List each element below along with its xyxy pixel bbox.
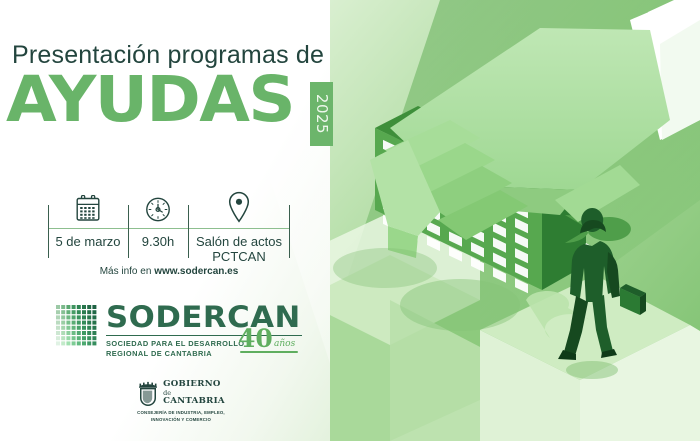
gobierno-department-line1: CONSEJERÍA DE INDUSTRIA, EMPLEO, [122, 410, 240, 416]
gobierno-logo-top: GOBIERNO de CANTABRIA [122, 380, 240, 407]
illustration-isometric-hand-placing-building [330, 0, 700, 441]
gobierno-line3: CANTABRIA [163, 397, 225, 407]
sodercan-tagline-line1: SOCIEDAD PARA EL DESARROLLO [106, 339, 246, 349]
info-table-horizontal-rule [48, 228, 290, 229]
anniversary-word: años [274, 339, 295, 349]
sodercan-wordmark: SODERCAN [106, 303, 318, 332]
gobierno-department: CONSEJERÍA DE INDUSTRIA, EMPLEO, INNOVAC… [122, 410, 240, 423]
gobierno-de-cantabria-logo: GOBIERNO de CANTABRIA CONSEJERÍA DE INDU… [122, 380, 240, 423]
event-info-table: 5 de marzo 9.30h Salón de actosPCTCAN [48, 183, 290, 261]
event-info-values-row: 5 de marzo 9.30h Salón de actosPCTCAN [48, 230, 290, 262]
event-time-value: 9.30h [128, 230, 188, 262]
event-venue-value: Salón de actosPCTCAN [188, 230, 290, 262]
year-badge: 2025 [310, 82, 333, 146]
clock-icon-cell [128, 183, 188, 223]
year-label: 2025 [313, 94, 331, 134]
poster-canvas: Presentación programas de AYUDAS 2025 [0, 0, 700, 441]
gobierno-wordmark: GOBIERNO de CANTABRIA [163, 380, 225, 407]
event-date-value: 5 de marzo [48, 230, 128, 262]
sodercan-logo: SODERCAN SOCIEDAD PARA EL DESARROLLO REG… [56, 305, 306, 357]
location-pin-icon-cell [188, 183, 290, 223]
gobierno-department-line2: INNOVACIÓN Y COMERCIO [122, 417, 240, 423]
event-info-icons-row [48, 183, 290, 223]
sodercan-tagline-line2: REGIONAL DE CANTABRIA [106, 349, 246, 359]
anniversary-badge: 40 años [238, 329, 304, 355]
clock-icon [145, 196, 171, 223]
more-info-url[interactable]: www.sodercan.es [154, 266, 238, 277]
location-pin-icon [227, 191, 251, 223]
calendar-icon [75, 195, 101, 223]
sodercan-tagline: SOCIEDAD PARA EL DESARROLLO REGIONAL DE … [106, 339, 246, 359]
more-info-prefix: Más info en [100, 266, 154, 277]
more-info-line: Más info en www.sodercan.es [48, 266, 290, 277]
calendar-icon-cell [48, 183, 128, 223]
anniversary-number: 40 [238, 326, 273, 351]
headline-main: AYUDAS [6, 68, 294, 131]
anniversary-underline [240, 351, 298, 353]
dot-grid-icon [56, 305, 98, 347]
coat-of-arms-icon [137, 381, 159, 407]
gobierno-line1: GOBIERNO [163, 380, 225, 390]
